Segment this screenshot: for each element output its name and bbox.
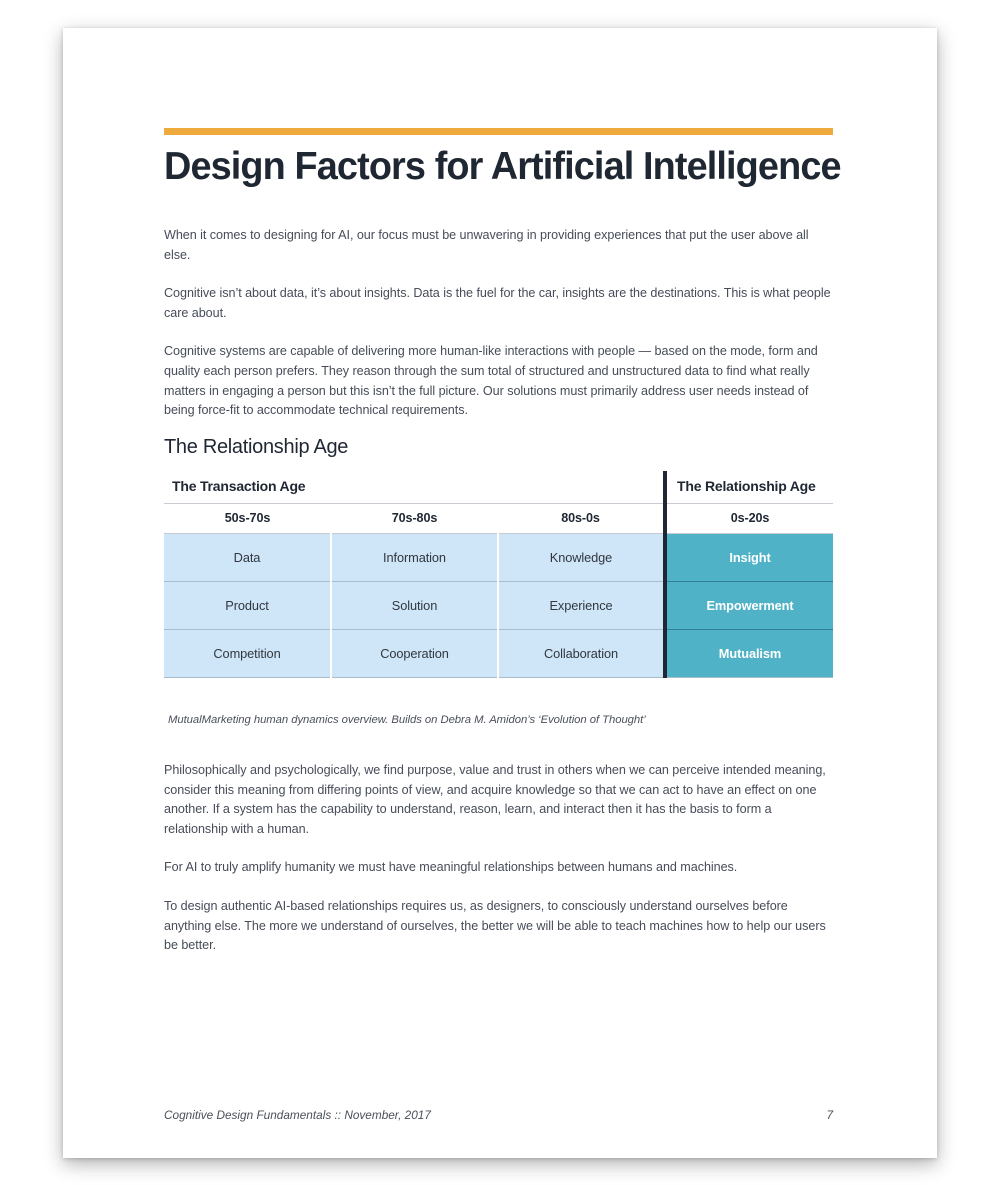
table-band-header-row: The Transaction Age The Relationship Age <box>164 471 833 504</box>
table-cell: Product <box>164 582 331 630</box>
document-page: Design Factors for Artificial Intelligen… <box>63 28 937 1158</box>
decade-header: 50s-70s <box>164 504 331 534</box>
table-cell: Information <box>331 534 498 582</box>
relationship-age-table: The Transaction Age The Relationship Age… <box>164 471 833 678</box>
paragraph: For AI to truly amplify humanity we must… <box>164 858 833 878</box>
conclusion-section: Philosophically and psychologically, we … <box>164 761 833 956</box>
decade-header: 70s-80s <box>331 504 498 534</box>
page-title: Design Factors for Artificial Intelligen… <box>164 146 813 188</box>
table-row: Product Solution Experience Empowerment <box>164 582 833 630</box>
table-cell: Competition <box>164 630 331 678</box>
table-cell: Data <box>164 534 331 582</box>
table-caption: MutualMarketing human dynamics overview.… <box>168 714 646 726</box>
paragraph: Cognitive isn’t about data, it’s about i… <box>164 284 833 323</box>
table-row: Data Information Knowledge Insight <box>164 534 833 582</box>
paragraph: When it comes to designing for AI, our f… <box>164 226 833 265</box>
band-header-relationship: The Relationship Age <box>665 471 833 504</box>
table-cell: Solution <box>331 582 498 630</box>
table-cell: Cooperation <box>331 630 498 678</box>
footer-document-label: Cognitive Design Fundamentals :: Novembe… <box>164 1108 431 1122</box>
paragraph: Philosophically and psychologically, we … <box>164 761 833 839</box>
paragraph: To design authentic AI-based relationshi… <box>164 897 833 956</box>
table-cell: Collaboration <box>498 630 665 678</box>
page-number: 7 <box>826 1108 833 1122</box>
table-cell-highlight: Mutualism <box>665 630 833 678</box>
table-decade-row: 50s-70s 70s-80s 80s-0s 0s-20s <box>164 504 833 534</box>
table-cell: Experience <box>498 582 665 630</box>
page-footer: Cognitive Design Fundamentals :: Novembe… <box>164 1108 833 1122</box>
table-cell-highlight: Insight <box>665 534 833 582</box>
band-header-transaction: The Transaction Age <box>164 471 665 504</box>
decade-header: 0s-20s <box>665 504 833 534</box>
table-cell: Knowledge <box>498 534 665 582</box>
table-cell-highlight: Empowerment <box>665 582 833 630</box>
paragraph: Cognitive systems are capable of deliver… <box>164 342 833 420</box>
table-row: Competition Cooperation Collaboration Mu… <box>164 630 833 678</box>
intro-section: When it comes to designing for AI, our f… <box>164 226 833 421</box>
decade-header: 80s-0s <box>498 504 665 534</box>
section-heading: The Relationship Age <box>164 436 348 459</box>
accent-rule <box>164 128 833 135</box>
